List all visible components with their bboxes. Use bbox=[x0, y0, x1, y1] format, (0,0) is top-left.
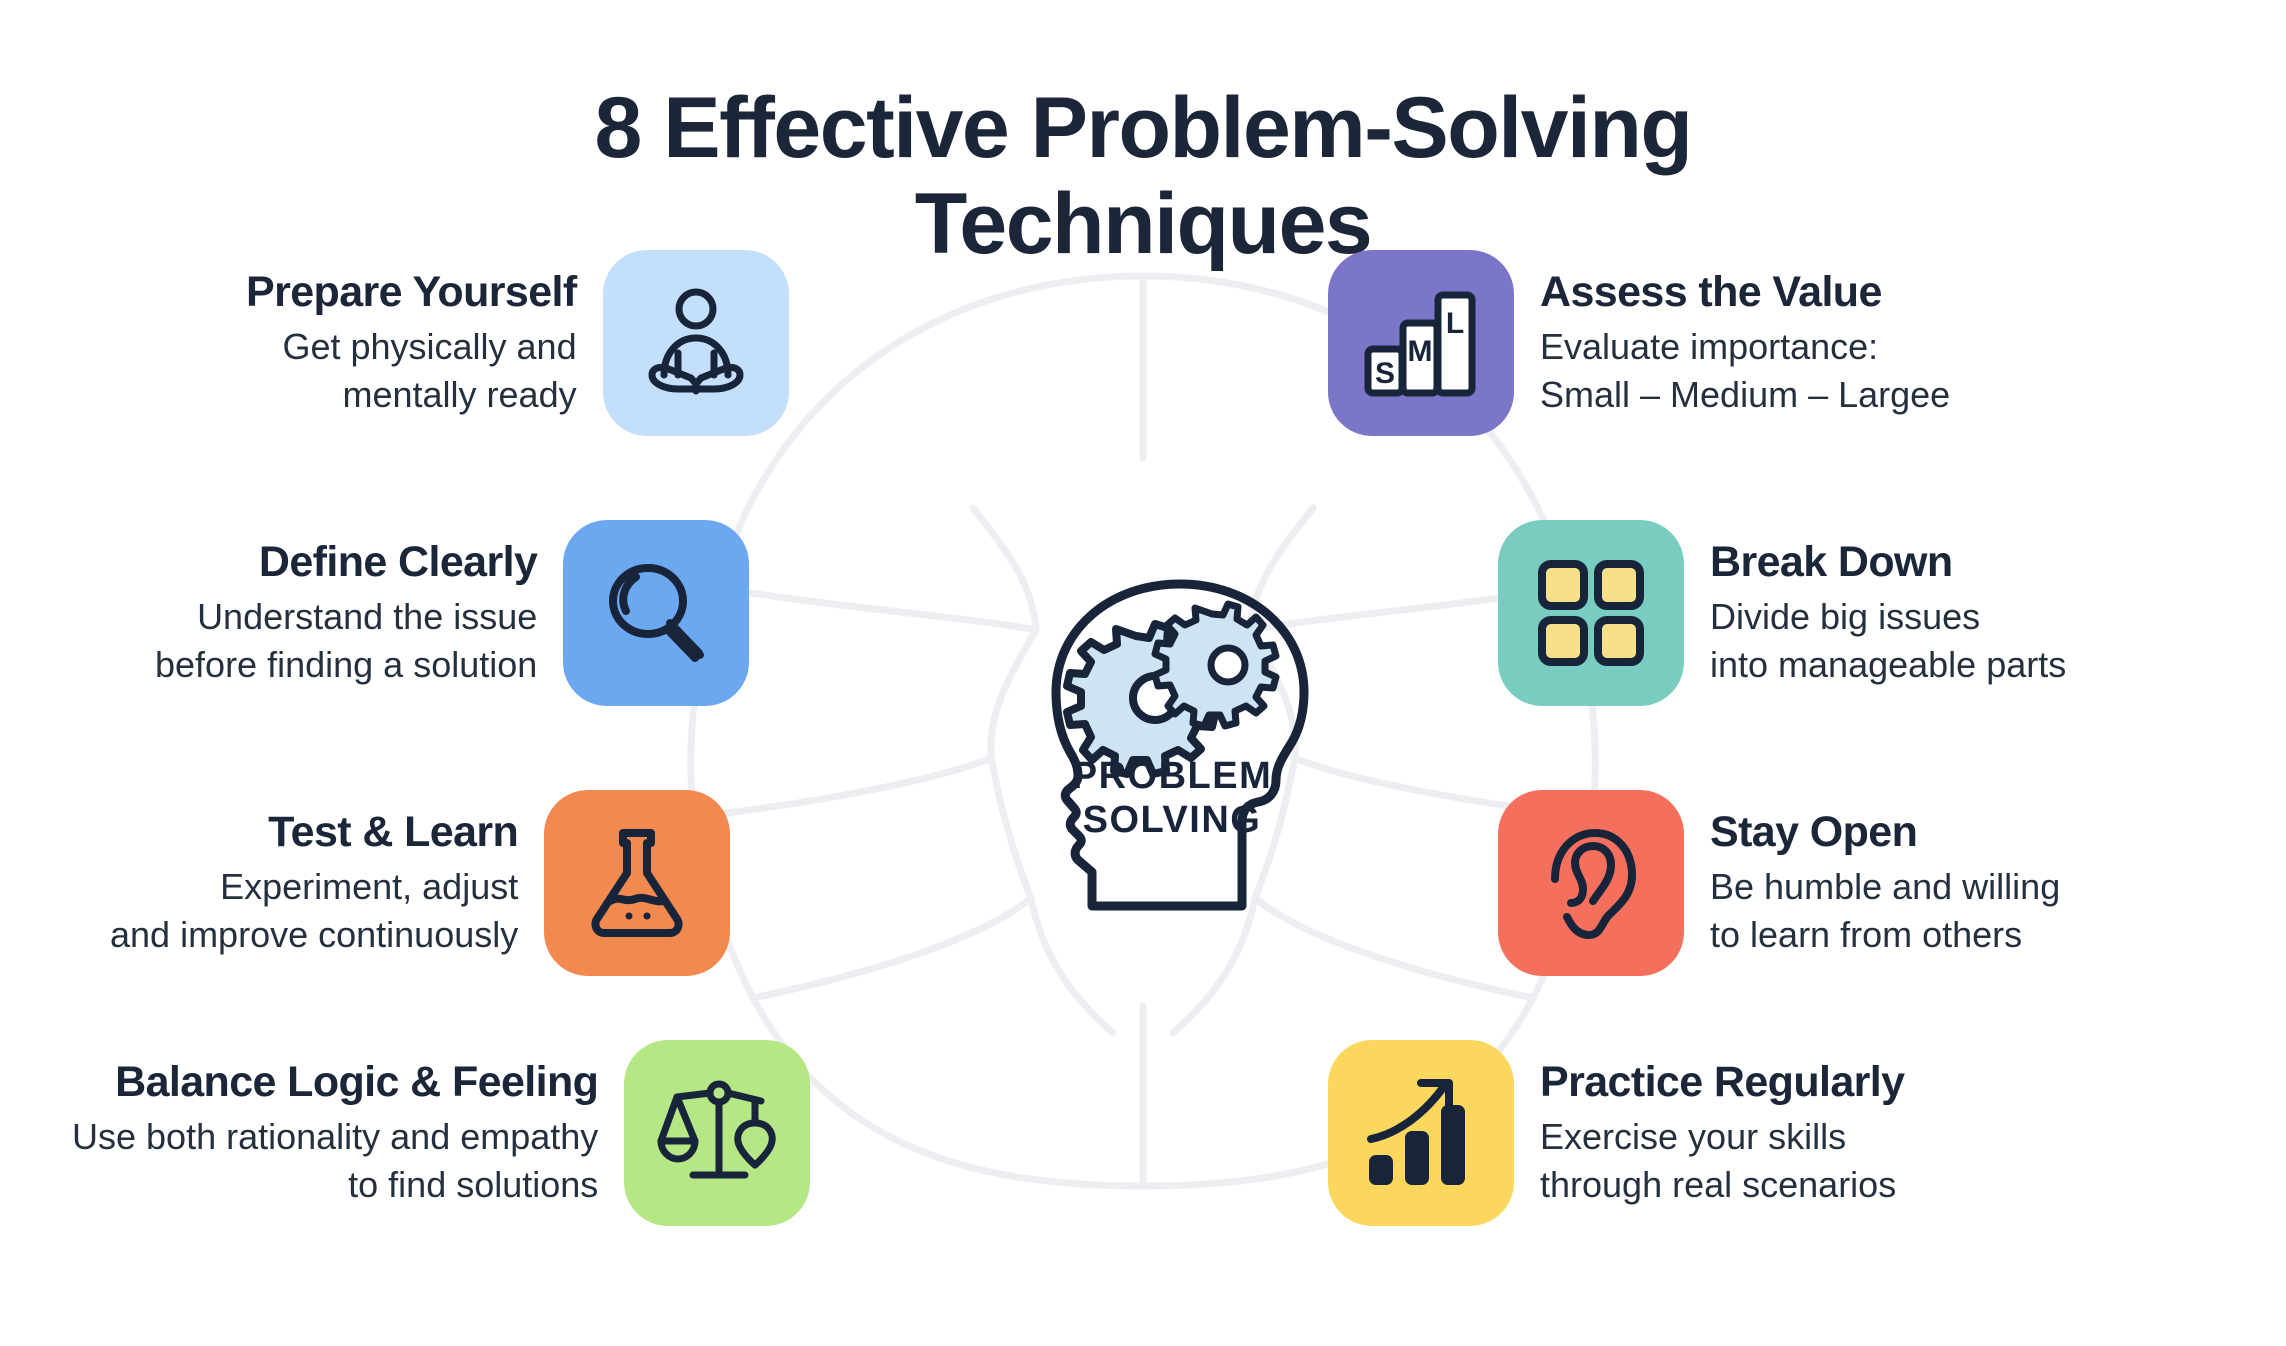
item-text-block: Define Clearly Understand the issue befo… bbox=[155, 538, 537, 689]
item-stay-open[interactable]: Stay Open Be humble and willing to learn… bbox=[1498, 790, 2060, 976]
item-description: Get physically and mentally ready bbox=[282, 323, 576, 418]
item-description: Be humble and willing to learn from othe… bbox=[1710, 863, 2060, 958]
item-description: Experiment, adjust and improve continuou… bbox=[110, 863, 518, 958]
item-icon-tile[interactable] bbox=[544, 790, 730, 976]
item-assess-the-value[interactable]: S M L Assess the Value Evaluate importan… bbox=[1328, 250, 1950, 436]
item-icon-tile[interactable] bbox=[624, 1040, 810, 1226]
item-test-and-learn[interactable]: Test & Learn Experiment, adjust and impr… bbox=[110, 790, 730, 976]
item-break-down[interactable]: Break Down Divide big issues into manage… bbox=[1498, 520, 2066, 706]
four-squares-grid-icon bbox=[1536, 558, 1646, 668]
item-title: Practice Regularly bbox=[1540, 1058, 1904, 1108]
item-text-block: Balance Logic & Feeling Use both rationa… bbox=[72, 1058, 598, 1209]
item-text-block: Prepare Yourself Get physically and ment… bbox=[246, 268, 577, 419]
item-title: Balance Logic & Feeling bbox=[115, 1058, 598, 1108]
item-title: Prepare Yourself bbox=[246, 268, 577, 318]
item-text-block: Break Down Divide big issues into manage… bbox=[1710, 538, 2066, 689]
item-icon-tile[interactable]: S M L bbox=[1328, 250, 1514, 436]
item-icon-tile[interactable] bbox=[603, 250, 789, 436]
item-define-clearly[interactable]: Define Clearly Understand the issue befo… bbox=[155, 520, 749, 706]
magnifying-glass-icon bbox=[596, 553, 716, 673]
item-description: Exercise your skills through real scenar… bbox=[1540, 1113, 1896, 1208]
sml-bar-chart-icon: S M L bbox=[1359, 281, 1483, 405]
center-graphic: PROBLEM SOLVING bbox=[940, 570, 1340, 920]
center-label-line1: PROBLEM bbox=[1072, 755, 1273, 797]
growth-bar-chart-arrow-icon bbox=[1361, 1073, 1481, 1193]
item-icon-tile[interactable] bbox=[1498, 520, 1684, 706]
item-text-block: Assess the Value Evaluate importance: Sm… bbox=[1540, 268, 1950, 419]
flask-icon bbox=[577, 823, 697, 943]
item-icon-tile[interactable] bbox=[1498, 790, 1684, 976]
item-icon-tile[interactable] bbox=[1328, 1040, 1514, 1226]
icon-label-l: L bbox=[1446, 307, 1464, 340]
balance-scale-icon bbox=[655, 1071, 779, 1195]
item-title: Stay Open bbox=[1710, 808, 1917, 858]
infographic-canvas: 8 Effective Problem-Solving Techniques bbox=[0, 0, 2286, 1346]
item-description: Evaluate importance: Small – Medium – La… bbox=[1540, 323, 1950, 418]
item-description: Divide big issues into manageable parts bbox=[1710, 593, 2066, 688]
center-label-line2: SOLVING bbox=[1083, 799, 1262, 841]
page-title: 8 Effective Problem-Solving Techniques bbox=[393, 80, 1893, 273]
item-practice-regularly[interactable]: Practice Regularly Exercise your skills … bbox=[1328, 1040, 1904, 1226]
meditation-person-icon bbox=[636, 283, 756, 403]
gear-small-icon bbox=[1155, 604, 1276, 726]
ear-icon bbox=[1531, 823, 1651, 943]
item-title: Break Down bbox=[1710, 538, 1953, 588]
item-text-block: Test & Learn Experiment, adjust and impr… bbox=[110, 808, 518, 959]
icon-label-s: S bbox=[1375, 357, 1395, 390]
head-with-gears-icon: PROBLEM SOLVING bbox=[940, 570, 1340, 920]
item-description: Understand the issue before finding a so… bbox=[155, 593, 537, 688]
item-text-block: Stay Open Be humble and willing to learn… bbox=[1710, 808, 2060, 959]
item-prepare-yourself[interactable]: Prepare Yourself Get physically and ment… bbox=[246, 250, 789, 436]
item-title: Assess the Value bbox=[1540, 268, 1882, 318]
item-title: Define Clearly bbox=[259, 538, 537, 588]
item-icon-tile[interactable] bbox=[563, 520, 749, 706]
item-balance-logic-and-feeling[interactable]: Balance Logic & Feeling Use both rationa… bbox=[72, 1040, 810, 1226]
icon-label-m: M bbox=[1408, 335, 1433, 368]
item-title: Test & Learn bbox=[268, 808, 518, 858]
item-description: Use both rationality and empathy to find… bbox=[72, 1113, 598, 1208]
item-text-block: Practice Regularly Exercise your skills … bbox=[1540, 1058, 1904, 1209]
